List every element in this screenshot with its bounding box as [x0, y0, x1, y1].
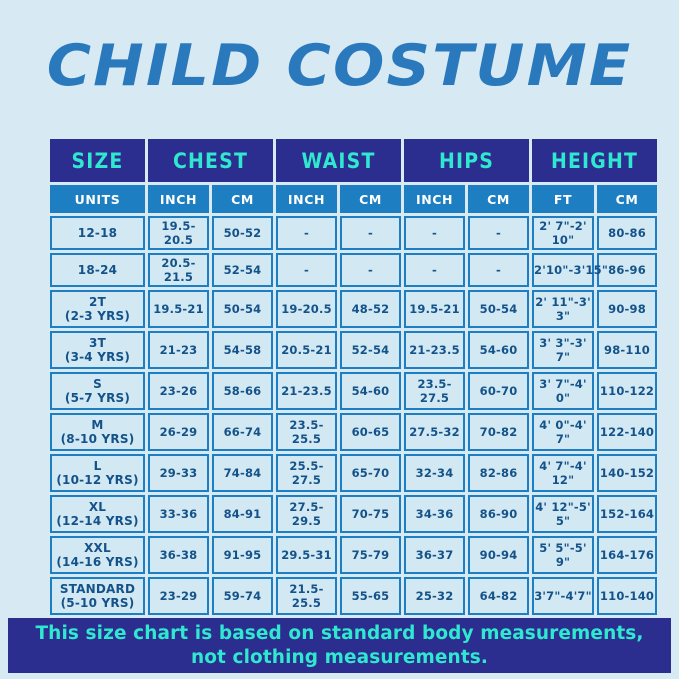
- measurement-cell-waist-cm: 52-54: [340, 331, 401, 369]
- table-row: L(10-12 YRS)29-3374-8425.5-27.565-7032-3…: [50, 454, 657, 492]
- size-cell: S(5-7 YRS): [50, 372, 145, 410]
- measurement-cell-chest-cm: 91-95: [212, 536, 273, 574]
- table-body: 12-1819.5-20.550-52----2' 7"-2' 10"80-86…: [50, 216, 657, 656]
- measurement-cell-height-cm: 110-122: [597, 372, 657, 410]
- group-header-chest: CHEST: [148, 139, 273, 182]
- table-row: S(5-7 YRS)23-2658-6621-23.554-6023.5-27.…: [50, 372, 657, 410]
- measurement-cell-waist-inch: 21.5-25.5: [276, 577, 337, 615]
- measurement-cell-height-ft: 2'10"-3'15": [532, 253, 594, 287]
- measurement-cell-hips-inch: 25-32: [404, 577, 465, 615]
- measurement-cell-height-ft: 4' 7"-4' 12": [532, 454, 594, 492]
- measurement-cell-chest-cm: 50-52: [212, 216, 273, 250]
- measurement-cell-chest-inch: 29-33: [148, 454, 209, 492]
- measurement-cell-chest-inch: 23-29: [148, 577, 209, 615]
- measurement-cell-chest-inch: 36-38: [148, 536, 209, 574]
- measurement-cell-height-ft: 5' 5"-5' 9": [532, 536, 594, 574]
- measurement-cell-hips-cm: 64-82: [468, 577, 529, 615]
- measurement-cell-hips-inch: -: [404, 253, 465, 287]
- size-cell: STANDARD(5-10 YRS): [50, 577, 145, 615]
- unit-header-5: INCH: [404, 185, 465, 213]
- size-age-range: (5-7 YRS): [52, 391, 143, 405]
- size-label: 3T: [52, 336, 143, 350]
- measurement-cell-chest-inch: 33-36: [148, 495, 209, 533]
- measurement-cell-chest-cm: 58-66: [212, 372, 273, 410]
- size-age-range: (12-14 YRS): [52, 514, 143, 528]
- measurement-cell-waist-cm: 54-60: [340, 372, 401, 410]
- measurement-cell-waist-inch: -: [276, 216, 337, 250]
- table-row: STANDARD(5-10 YRS)23-2959-7421.5-25.555-…: [50, 577, 657, 615]
- measurement-cell-chest-inch: 21-23: [148, 331, 209, 369]
- measurement-cell-chest-cm: 52-54: [212, 253, 273, 287]
- units-header-row: UNITSINCHCMINCHCMINCHCMFTCM: [50, 185, 657, 213]
- measurement-cell-height-ft: 2' 7"-2' 10": [532, 216, 594, 250]
- group-header-hips: HIPS: [404, 139, 529, 182]
- size-age-range: (5-10 YRS): [52, 596, 143, 610]
- size-cell: XXL(14-16 YRS): [50, 536, 145, 574]
- group-header-size: SIZE: [50, 139, 145, 182]
- measurement-cell-waist-inch: 20.5-21: [276, 331, 337, 369]
- unit-header-6: CM: [468, 185, 529, 213]
- measurement-cell-waist-cm: 55-65: [340, 577, 401, 615]
- disclaimer-line-2: not clothing measurements.: [35, 646, 643, 670]
- measurement-cell-waist-cm: 65-70: [340, 454, 401, 492]
- table-row: 2T(2-3 YRS)19.5-2150-5419-20.548-5219.5-…: [50, 290, 657, 328]
- measurement-cell-chest-cm: 59-74: [212, 577, 273, 615]
- unit-header-0: UNITS: [50, 185, 145, 213]
- size-age-range: (14-16 YRS): [52, 555, 143, 569]
- measurement-cell-hips-inch: 34-36: [404, 495, 465, 533]
- unit-header-8: CM: [597, 185, 657, 213]
- measurement-cell-chest-inch: 26-29: [148, 413, 209, 451]
- size-label: STANDARD: [52, 582, 143, 596]
- group-header-row: SIZECHESTWAISTHIPSHEIGHT: [50, 139, 657, 182]
- size-label: M: [52, 418, 143, 432]
- measurement-cell-waist-cm: 70-75: [340, 495, 401, 533]
- group-header-waist: WAIST: [276, 139, 401, 182]
- measurement-cell-hips-cm: -: [468, 216, 529, 250]
- measurement-cell-waist-cm: 75-79: [340, 536, 401, 574]
- measurement-cell-waist-inch: -: [276, 253, 337, 287]
- measurement-cell-hips-cm: 60-70: [468, 372, 529, 410]
- measurement-cell-hips-inch: 27.5-32: [404, 413, 465, 451]
- measurement-cell-height-cm: 90-98: [597, 290, 657, 328]
- measurement-cell-waist-inch: 27.5-29.5: [276, 495, 337, 533]
- page-title: CHILD COSTUME: [0, 34, 679, 98]
- table-header: SIZECHESTWAISTHIPSHEIGHT UNITSINCHCMINCH…: [50, 139, 657, 213]
- measurement-cell-hips-inch: 19.5-21: [404, 290, 465, 328]
- measurement-cell-chest-cm: 50-54: [212, 290, 273, 328]
- measurement-cell-height-ft: 4' 0"-4' 7": [532, 413, 594, 451]
- size-chart-page: CHILD COSTUME SIZECHESTWAISTHIPSHEIGHT U…: [0, 0, 679, 679]
- measurement-cell-waist-inch: 19-20.5: [276, 290, 337, 328]
- measurement-cell-height-ft: 2' 11"-3' 3": [532, 290, 594, 328]
- measurement-cell-waist-inch: 21-23.5: [276, 372, 337, 410]
- unit-header-7: FT: [532, 185, 594, 213]
- table-row: 12-1819.5-20.550-52----2' 7"-2' 10"80-86: [50, 216, 657, 250]
- measurement-cell-height-ft: 4' 12"-5' 5": [532, 495, 594, 533]
- size-age-range: (3-4 YRS): [52, 350, 143, 364]
- measurement-cell-height-cm: 110-140: [597, 577, 657, 615]
- group-header-height: HEIGHT: [532, 139, 657, 182]
- measurement-cell-hips-inch: 21-23.5: [404, 331, 465, 369]
- size-cell: 2T(2-3 YRS): [50, 290, 145, 328]
- measurement-cell-waist-cm: 48-52: [340, 290, 401, 328]
- size-label: L: [52, 459, 143, 473]
- measurement-cell-height-cm: 80-86: [597, 216, 657, 250]
- measurement-cell-chest-inch: 23-26: [148, 372, 209, 410]
- measurement-cell-waist-inch: 23.5-25.5: [276, 413, 337, 451]
- measurement-cell-hips-cm: 82-86: [468, 454, 529, 492]
- size-cell: XL(12-14 YRS): [50, 495, 145, 533]
- measurement-cell-waist-cm: -: [340, 253, 401, 287]
- measurement-cell-hips-inch: 36-37: [404, 536, 465, 574]
- measurement-cell-height-cm: 140-152: [597, 454, 657, 492]
- table-row: XL(12-14 YRS)33-3684-9127.5-29.570-7534-…: [50, 495, 657, 533]
- size-age-range: (2-3 YRS): [52, 309, 143, 323]
- measurement-cell-chest-inch: 19.5-20.5: [148, 216, 209, 250]
- size-table: SIZECHESTWAISTHIPSHEIGHT UNITSINCHCMINCH…: [47, 136, 660, 659]
- measurement-cell-height-cm: 122-140: [597, 413, 657, 451]
- measurement-cell-waist-inch: 25.5-27.5: [276, 454, 337, 492]
- measurement-cell-chest-inch: 19.5-21: [148, 290, 209, 328]
- measurement-cell-height-cm: 164-176: [597, 536, 657, 574]
- measurement-cell-hips-cm: 50-54: [468, 290, 529, 328]
- measurement-cell-hips-cm: 86-90: [468, 495, 529, 533]
- measurement-cell-height-ft: 3'7"-4'7": [532, 577, 594, 615]
- table-row: 3T(3-4 YRS)21-2354-5820.5-2152-5421-23.5…: [50, 331, 657, 369]
- size-age-range: (8-10 YRS): [52, 432, 143, 446]
- measurement-cell-hips-cm: -: [468, 253, 529, 287]
- measurement-cell-waist-cm: 60-65: [340, 413, 401, 451]
- size-cell: L(10-12 YRS): [50, 454, 145, 492]
- size-cell: 3T(3-4 YRS): [50, 331, 145, 369]
- measurement-cell-hips-cm: 90-94: [468, 536, 529, 574]
- size-label: S: [52, 377, 143, 391]
- size-cell: 12-18: [50, 216, 145, 250]
- size-label: 12-18: [52, 226, 143, 240]
- size-label: XXL: [52, 541, 143, 555]
- measurement-cell-hips-inch: 32-34: [404, 454, 465, 492]
- measurement-cell-hips-cm: 54-60: [468, 331, 529, 369]
- measurement-cell-height-cm: 98-110: [597, 331, 657, 369]
- measurement-cell-waist-cm: -: [340, 216, 401, 250]
- measurement-cell-height-ft: 3' 3"-3' 7": [532, 331, 594, 369]
- size-label: 2T: [52, 295, 143, 309]
- measurement-cell-chest-cm: 66-74: [212, 413, 273, 451]
- measurement-cell-hips-inch: -: [404, 216, 465, 250]
- size-cell: 18-24: [50, 253, 145, 287]
- size-label: XL: [52, 500, 143, 514]
- unit-header-1: INCH: [148, 185, 209, 213]
- measurement-cell-chest-cm: 74-84: [212, 454, 273, 492]
- measurement-cell-hips-cm: 70-82: [468, 413, 529, 451]
- table-row: 18-2420.5-21.552-54----2'10"-3'15"86-96: [50, 253, 657, 287]
- table-row: M(8-10 YRS)26-2966-7423.5-25.560-6527.5-…: [50, 413, 657, 451]
- measurement-cell-chest-inch: 20.5-21.5: [148, 253, 209, 287]
- measurement-cell-chest-cm: 54-58: [212, 331, 273, 369]
- size-cell: M(8-10 YRS): [50, 413, 145, 451]
- measurement-cell-chest-cm: 84-91: [212, 495, 273, 533]
- disclaimer-banner: This size chart is based on standard bod…: [8, 618, 671, 673]
- unit-header-4: CM: [340, 185, 401, 213]
- measurement-cell-height-cm: 152-164: [597, 495, 657, 533]
- measurement-cell-hips-inch: 23.5-27.5: [404, 372, 465, 410]
- unit-header-2: CM: [212, 185, 273, 213]
- size-age-range: (10-12 YRS): [52, 473, 143, 487]
- measurement-cell-height-ft: 3' 7"-4' 0": [532, 372, 594, 410]
- measurement-cell-waist-inch: 29.5-31: [276, 536, 337, 574]
- table-row: XXL(14-16 YRS)36-3891-9529.5-3175-7936-3…: [50, 536, 657, 574]
- size-table-container: SIZECHESTWAISTHIPSHEIGHT UNITSINCHCMINCH…: [47, 136, 632, 659]
- size-label: 18-24: [52, 263, 143, 277]
- unit-header-3: INCH: [276, 185, 337, 213]
- disclaimer-line-1: This size chart is based on standard bod…: [35, 622, 643, 646]
